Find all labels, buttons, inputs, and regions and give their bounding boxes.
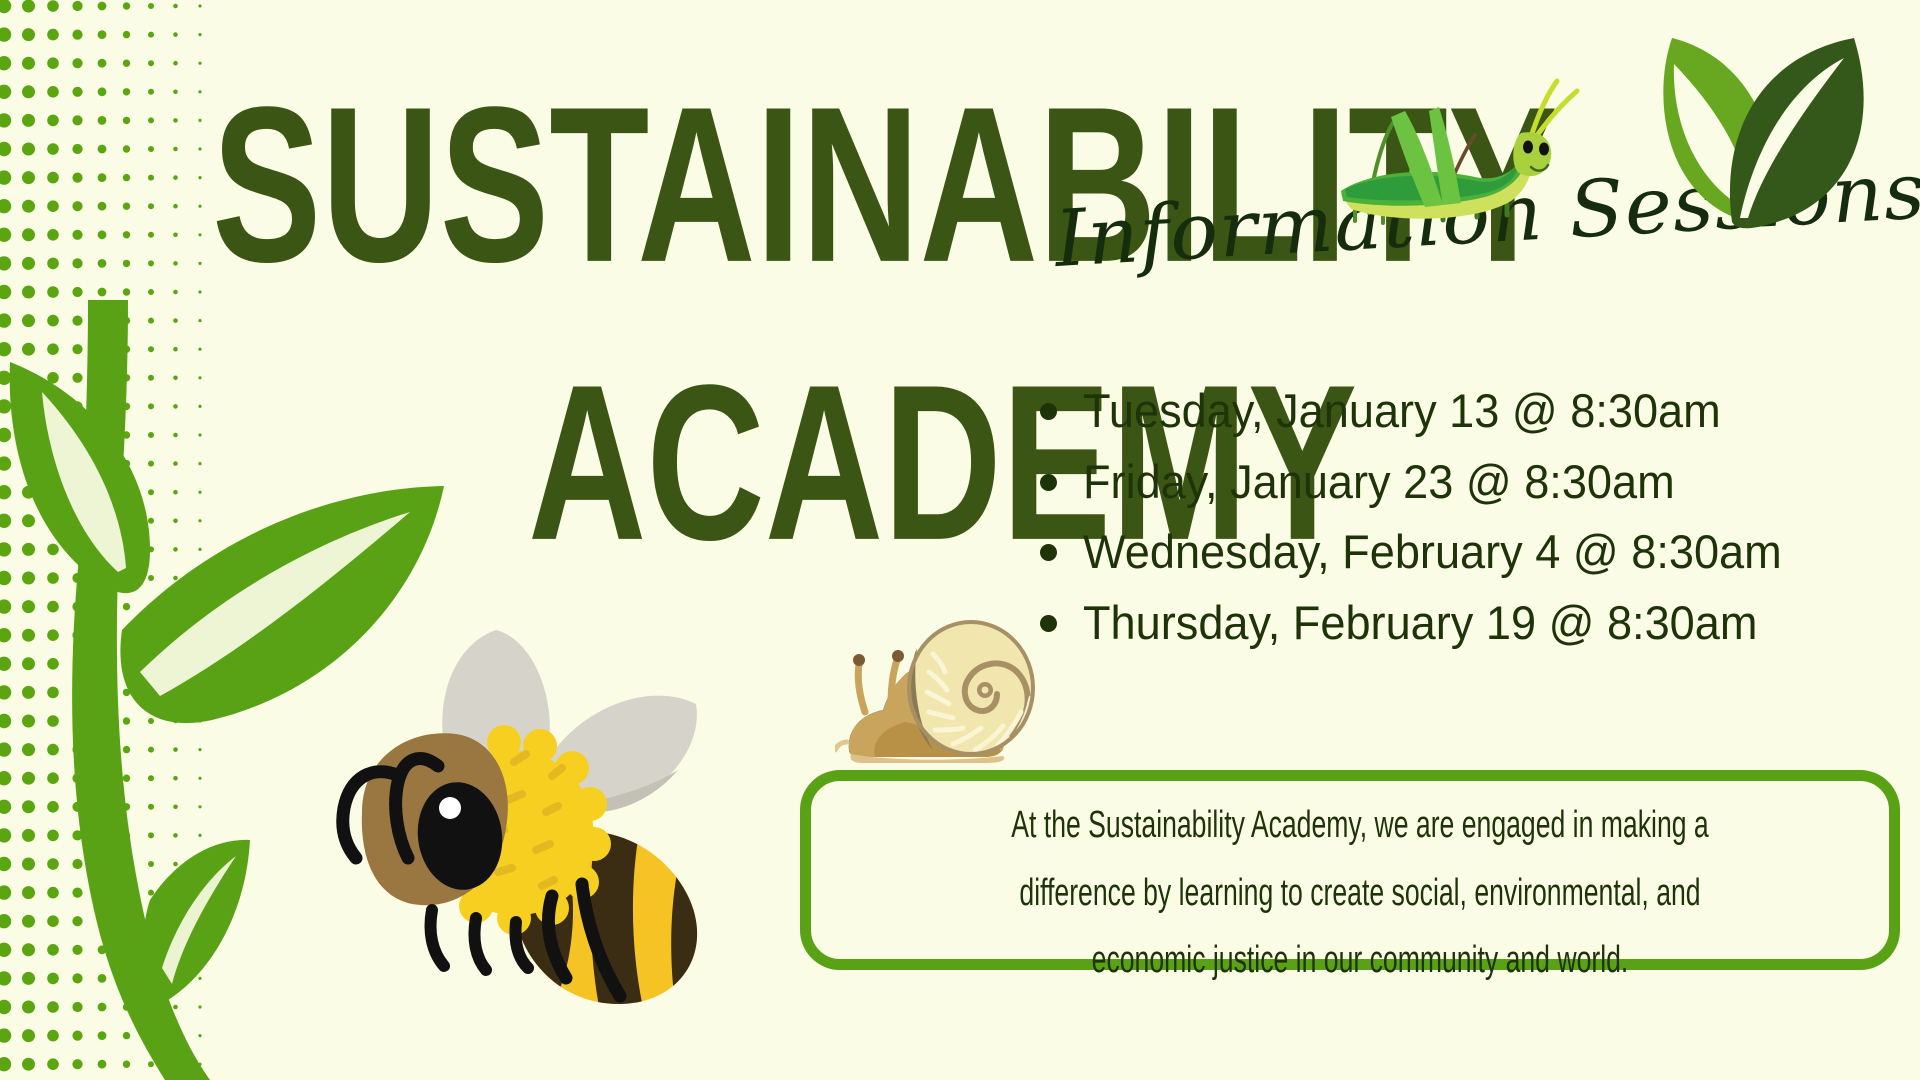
- mission-statement-text: At the Sustainability Academy, we are en…: [982, 792, 1738, 995]
- snail-icon: [835, 610, 1075, 770]
- grasshopper-icon: [1325, 55, 1625, 240]
- poster-canvas: SUSTAINABILITY ACADEMY Information Sessi…: [0, 0, 1920, 1080]
- session-list: Tuesday, January 13 @ 8:30am Friday, Jan…: [1040, 378, 1920, 661]
- list-item: Tuesday, January 13 @ 8:30am: [1040, 378, 1920, 445]
- two-leaf-logo-icon: [1628, 22, 1898, 247]
- session-label: Thursday, February 19 @ 8:30am: [1083, 590, 1757, 657]
- honeybee-icon: [300, 600, 730, 1010]
- session-label: Wednesday, February 4 @ 8:30am: [1083, 519, 1782, 586]
- bullet-icon: [1040, 544, 1057, 561]
- list-item: Thursday, February 19 @ 8:30am: [1040, 590, 1920, 657]
- bullet-icon: [1040, 474, 1057, 491]
- session-label: Friday, January 23 @ 8:30am: [1083, 449, 1675, 516]
- list-item: Wednesday, February 4 @ 8:30am: [1040, 519, 1920, 586]
- list-item: Friday, January 23 @ 8:30am: [1040, 449, 1920, 516]
- bullet-icon: [1040, 403, 1057, 420]
- session-label: Tuesday, January 13 @ 8:30am: [1083, 378, 1721, 445]
